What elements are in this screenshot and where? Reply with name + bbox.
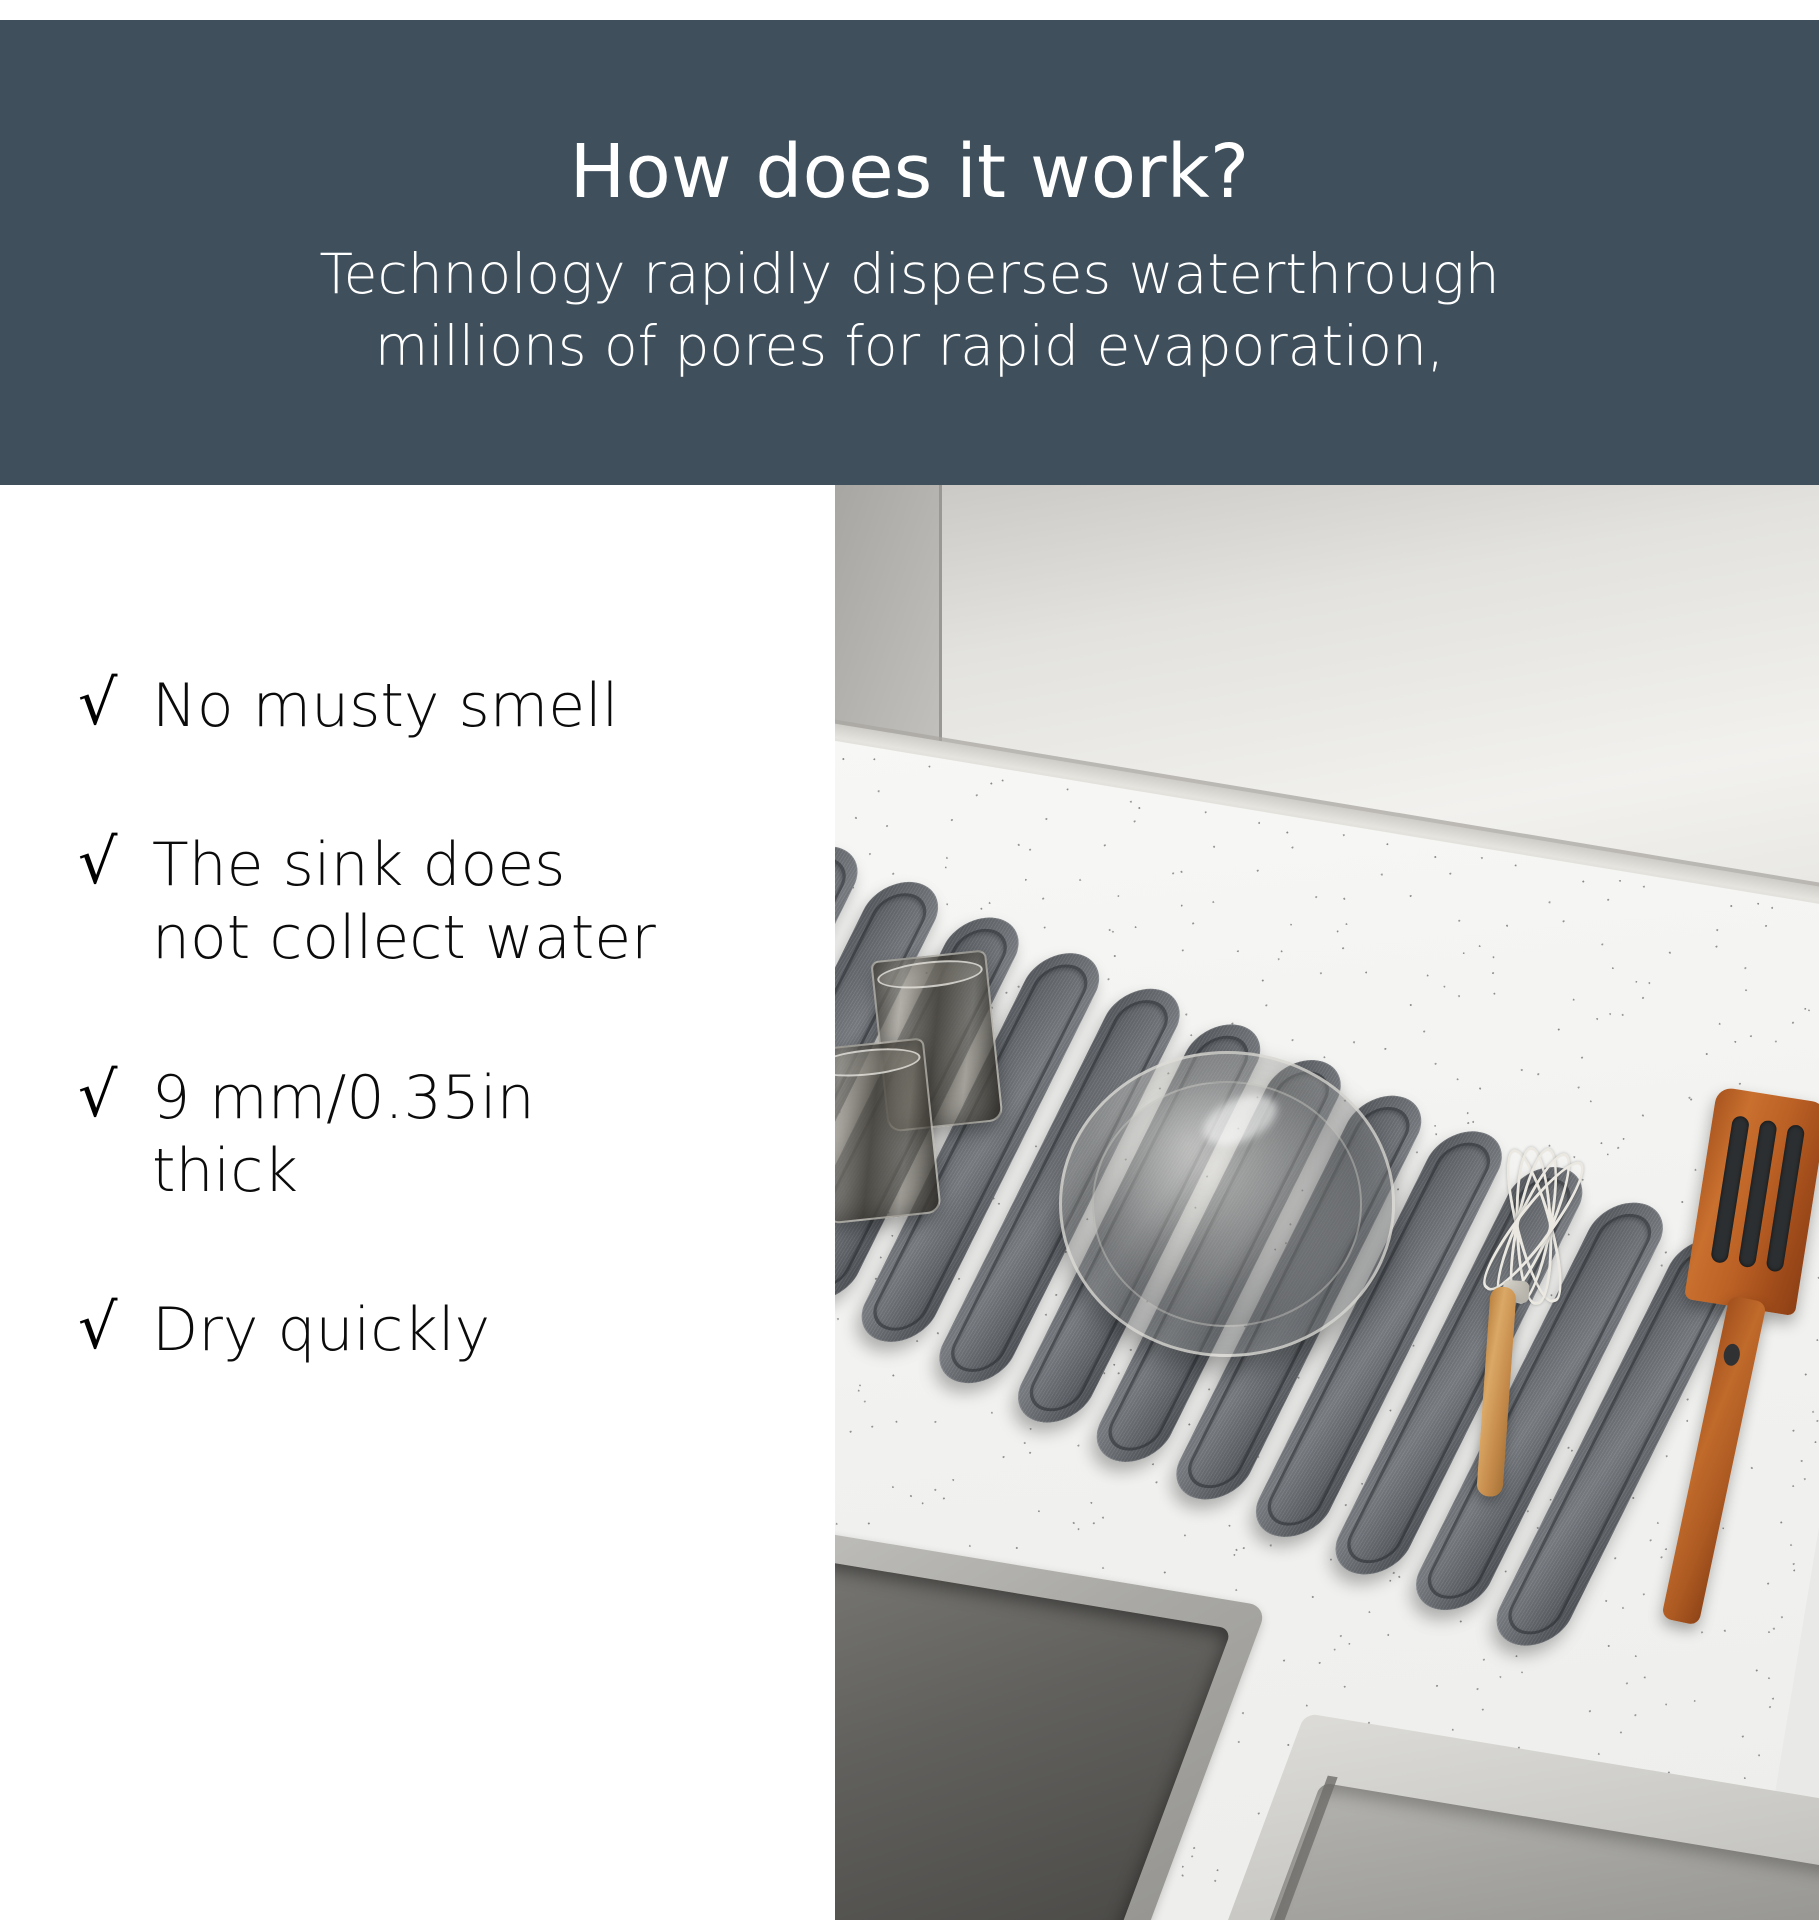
glass-tumbler [835, 1037, 942, 1224]
tumbler-rim [876, 956, 984, 993]
tumbler-rim [835, 1044, 922, 1081]
check-icon: √ [78, 829, 152, 896]
top-white-strip [0, 0, 1819, 20]
product-photo [835, 485, 1819, 1920]
feature-label: No musty smell [152, 670, 805, 743]
header-banner: How does it work? Technology rapidly dis… [0, 20, 1819, 485]
glass-plate [1059, 1051, 1395, 1357]
feature-item-no-musty-smell: √ No musty smell [78, 670, 805, 743]
feature-label: 9 mm/0.35in thick [152, 1062, 805, 1208]
body-area: √ No musty smell √ The sink does not col… [0, 485, 1819, 1920]
check-icon: √ [78, 1062, 152, 1129]
feature-item-dry-quickly: √ Dry quickly [78, 1294, 805, 1367]
check-icon: √ [78, 670, 152, 737]
header-subtitle: Technology rapidly disperses waterthroug… [319, 238, 1499, 383]
feature-label: The sink does not collect water [152, 829, 805, 975]
feature-item-thickness: √ 9 mm/0.35in thick [78, 1062, 805, 1208]
feature-item-sink-does-not-collect-water: √ The sink does not collect water [78, 829, 805, 975]
check-icon: √ [78, 1294, 152, 1361]
subtitle-line-1: Technology rapidly disperses waterthroug… [319, 238, 1499, 311]
spatula-handle [1661, 1295, 1767, 1626]
subtitle-line-2: millions of pores for rapid evaporation, [319, 310, 1499, 383]
feature-label: Dry quickly [152, 1294, 805, 1367]
page-title: How does it work? [570, 134, 1250, 212]
feature-list: √ No musty smell √ The sink does not col… [0, 485, 835, 1920]
